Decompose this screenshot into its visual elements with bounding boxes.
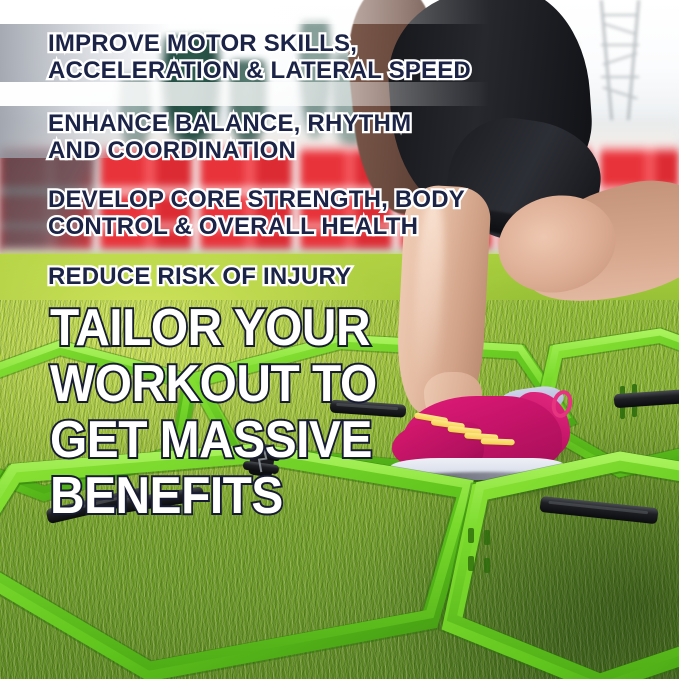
text-backdrop-band: [0, 82, 679, 106]
benefit-bullet-3: DEVELOP CORE STRENGTH, BODY CONTROL & OV…: [48, 186, 465, 240]
benefit-bullet-1: IMPROVE MOTOR SKILLS, ACCELERATION & LAT…: [48, 30, 471, 84]
text-overlay: IMPROVE MOTOR SKILLS, ACCELERATION & LAT…: [0, 0, 679, 679]
benefit-bullet-4: REDUCE RISK OF INJURY: [48, 263, 351, 290]
benefit-bullet-2: ENHANCE BALANCE, RHYTHM AND COORDINATION: [48, 110, 411, 164]
product-banner: IMPROVE MOTOR SKILLS, ACCELERATION & LAT…: [0, 0, 679, 679]
text-backdrop-band: [0, 0, 679, 24]
main-headline: TAILOR YOUR WORKOUT TO GET MASSIVE BENEF…: [50, 300, 377, 524]
